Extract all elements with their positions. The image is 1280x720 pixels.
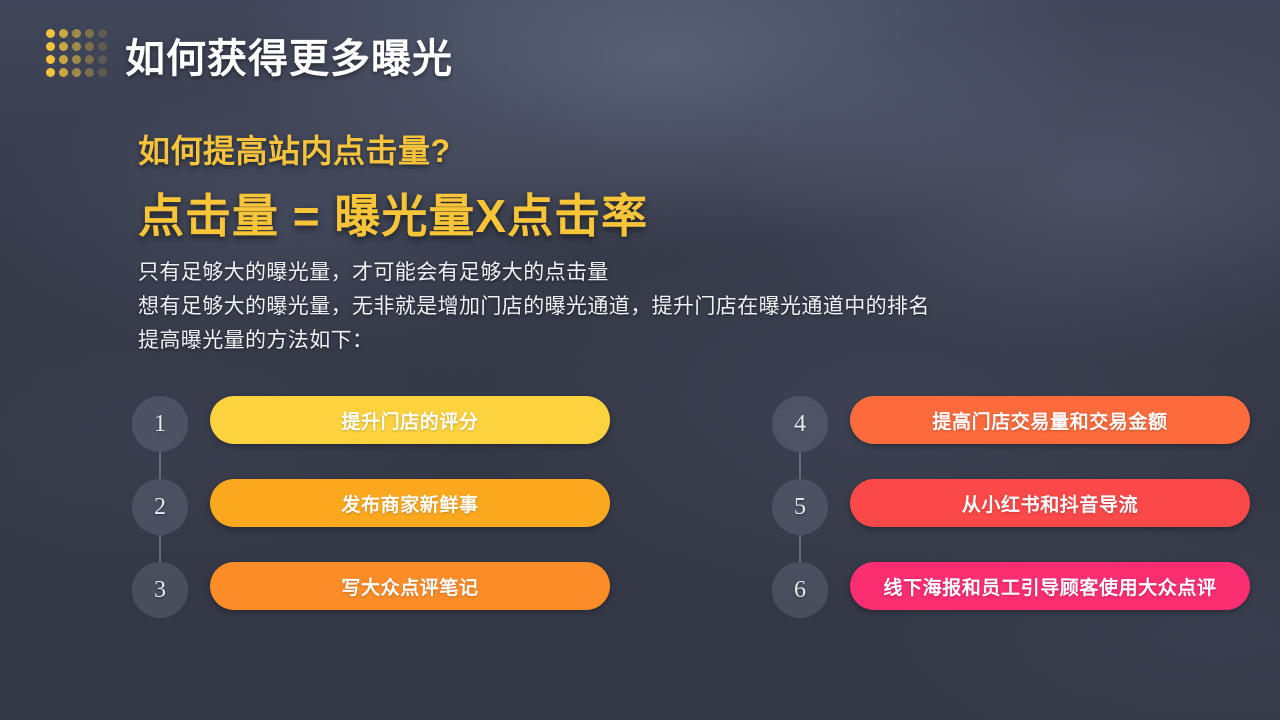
step-number-badge: 6 xyxy=(772,562,828,618)
paragraph-line: 只有足够大的曝光量，才可能会有足够大的点击量 xyxy=(138,256,1198,290)
step-number-badge: 2 xyxy=(132,479,188,535)
step-number-wrap: 4 xyxy=(772,396,850,452)
step-pill-2[interactable]: 发布商家新鲜事 xyxy=(210,479,610,527)
step-number-badge: 5 xyxy=(772,479,828,535)
list-item[interactable]: 2 发布商家新鲜事 xyxy=(132,479,640,562)
step-connector-line xyxy=(159,535,161,562)
steps-container: 1 提升门店的评分 2 发布商家新鲜事 3 xyxy=(0,396,1280,645)
list-item[interactable]: 3 写大众点评笔记 xyxy=(132,562,640,645)
step-pill-1[interactable]: 提升门店的评分 xyxy=(210,396,610,444)
list-item[interactable]: 5 从小红书和抖音导流 xyxy=(772,479,1280,562)
step-connector-line xyxy=(159,452,161,479)
step-connector-line xyxy=(799,452,801,479)
steps-column-left: 1 提升门店的评分 2 发布商家新鲜事 3 xyxy=(0,396,640,645)
page-title: 如何获得更多曝光 xyxy=(125,26,453,84)
section-formula: 点击量 = 曝光量X点击率 xyxy=(138,180,648,246)
dot-grid-icon xyxy=(46,29,111,81)
list-item[interactable]: 1 提升门店的评分 xyxy=(132,396,640,479)
body-paragraph: 只有足够大的曝光量，才可能会有足够大的点击量 想有足够大的曝光量，无非就是增加门… xyxy=(138,256,1198,358)
step-connector-line xyxy=(799,535,801,562)
step-number-wrap: 3 xyxy=(132,562,210,618)
step-number-badge: 3 xyxy=(132,562,188,618)
paragraph-line: 想有足够大的曝光量，无非就是增加门店的曝光通道，提升门店在曝光通道中的排名 xyxy=(138,290,1198,324)
step-pill-4[interactable]: 提高门店交易量和交易金额 xyxy=(850,396,1250,444)
steps-column-right: 4 提高门店交易量和交易金额 5 从小红书和抖音导流 6 xyxy=(640,396,1280,645)
list-item[interactable]: 4 提高门店交易量和交易金额 xyxy=(772,396,1280,479)
step-number-badge: 4 xyxy=(772,396,828,452)
step-number-wrap: 2 xyxy=(132,479,210,535)
section-kicker: 如何提高站内点击量? xyxy=(138,126,451,172)
step-pill-3[interactable]: 写大众点评笔记 xyxy=(210,562,610,610)
slide-header: 如何获得更多曝光 xyxy=(0,0,1280,100)
slide-canvas: 如何获得更多曝光 如何提高站内点击量? 点击量 = 曝光量X点击率 只有足够大的… xyxy=(0,0,1280,720)
step-number-wrap: 6 xyxy=(772,562,850,618)
step-pill-5[interactable]: 从小红书和抖音导流 xyxy=(850,479,1250,527)
step-number-badge: 1 xyxy=(132,396,188,452)
list-item[interactable]: 6 线下海报和员工引导顾客使用大众点评 xyxy=(772,562,1280,645)
paragraph-line: 提高曝光量的方法如下： xyxy=(138,324,1198,358)
step-pill-6[interactable]: 线下海报和员工引导顾客使用大众点评 xyxy=(850,562,1250,610)
step-number-wrap: 5 xyxy=(772,479,850,535)
step-number-wrap: 1 xyxy=(132,396,210,452)
